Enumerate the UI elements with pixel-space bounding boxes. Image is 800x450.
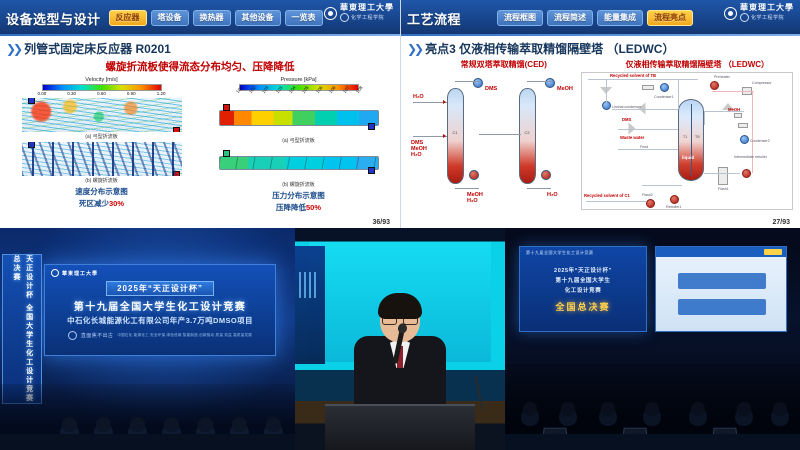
label-dms: DMS bbox=[622, 117, 631, 122]
right-screen2-card bbox=[678, 273, 766, 289]
audience-desk bbox=[505, 434, 800, 450]
velocity-tick: 0.90 bbox=[127, 91, 136, 96]
slide-left-title-row: ❯❯ 列管式固定床反应器 R0201 bbox=[6, 40, 394, 57]
university-sub: 化学工程学院 bbox=[340, 13, 394, 22]
inlet-nozzle-icon bbox=[28, 98, 35, 104]
pressure-caption-a: (a) 弓型折流板 bbox=[282, 137, 315, 144]
slides-region: 设备选型与设计 反应器 塔设备 换热器 其他设备 一览表 華東理工大學 化学工程… bbox=[0, 0, 800, 228]
right-screen-line-4: 全国总决赛 bbox=[555, 300, 610, 313]
velocity-caption-b: (b) 螺旋折流板 bbox=[85, 177, 118, 184]
line bbox=[704, 111, 705, 125]
velocity-caption-a: (a) 弓型折流板 bbox=[85, 133, 118, 140]
university-name-cn: 華東理工大學 bbox=[340, 4, 394, 12]
tab-overview-table[interactable]: 一览表 bbox=[285, 10, 323, 26]
right-screen-line-1: 2025年“天正设计杯” bbox=[554, 266, 612, 274]
slide-right-body: ❯❯ 亮点3 仅液相传输萃取精馏隔壁塔 （LEDWC） 常规双塔萃取精馏(CED… bbox=[401, 36, 800, 228]
pressure-tube-b bbox=[219, 156, 379, 170]
column-c1 bbox=[447, 88, 464, 184]
pressure-metric-label: 压降降低 bbox=[276, 203, 306, 212]
video-region: 華東理工大學 2025年“天正设计杯” 第十九届全国大学生化工设计竞赛 中石化长… bbox=[0, 228, 800, 450]
university-sub: 化学工程学院 bbox=[740, 13, 794, 22]
audience-head bbox=[601, 402, 615, 416]
video-panel-left[interactable]: 華東理工大學 2025年“天正设计杯” 第十九届全国大学生化工设计竞赛 中石化长… bbox=[0, 228, 295, 450]
slide-right-tabs: 流程框图 流程简述 能量集成 流程亮点 bbox=[497, 10, 693, 26]
screen-footer-left: 直面焦不出古 bbox=[81, 332, 113, 339]
pressure-tick: 108 bbox=[355, 85, 367, 96]
line bbox=[588, 79, 698, 80]
flow-arrow-icon bbox=[443, 134, 446, 138]
pressure-caption-b: (b) 螺旋折流板 bbox=[282, 181, 315, 188]
audience-head bbox=[96, 417, 111, 432]
right-screen-secondary bbox=[655, 246, 787, 332]
velocity-contour-a bbox=[22, 98, 182, 132]
pressure-metric-value: 50% bbox=[306, 203, 321, 212]
outlet-nozzle-icon bbox=[368, 167, 375, 174]
flash-vessel-icon bbox=[718, 167, 728, 185]
slide-left-title: 列管式固定床反应器 R0201 bbox=[24, 40, 171, 57]
label-bottom-2: H₂O bbox=[547, 192, 558, 198]
velocity-metric-value: 30% bbox=[109, 199, 124, 208]
recycle-line bbox=[752, 91, 753, 173]
audience-head bbox=[523, 402, 537, 416]
screen-root: 设备选型与设计 反应器 塔设备 换热器 其他设备 一览表 華東理工大學 化学工程… bbox=[0, 0, 800, 450]
college-name-cn: 化学工程学院 bbox=[751, 14, 784, 21]
slide-left-tabs: 反应器 塔设备 换热器 其他设备 一览表 bbox=[109, 10, 323, 26]
vertical-banner-left: 天正设计杯 全国大学生化工设计竞赛 总决赛 bbox=[2, 254, 42, 404]
tab-tower[interactable]: 塔设备 bbox=[151, 10, 189, 26]
velocity-colorbar-ticks: 0.00 0.30 0.60 0.90 1.20 bbox=[38, 91, 166, 96]
university-logo-right: 華東理工大學 化学工程学院 bbox=[724, 4, 794, 22]
right-screen-line-2: 第十九届全国大学生 bbox=[556, 276, 611, 284]
label-flash2: Flash2 bbox=[642, 193, 653, 197]
caption-ledwc: 仅液相传输萃取精馏隔壁塔 （LEDWC） bbox=[601, 59, 795, 70]
pressure-caption-main: 压力分布示意图 bbox=[272, 190, 325, 201]
pipe bbox=[455, 188, 479, 189]
recycle-line bbox=[712, 91, 754, 92]
line bbox=[606, 79, 607, 103]
right-screen2-badge bbox=[764, 249, 782, 255]
university-seal-icon bbox=[324, 7, 337, 20]
university-name-cn: 華東理工大學 bbox=[740, 4, 794, 12]
right-screen-tag: 第十九届全国大学生化工设计竞赛 bbox=[526, 250, 594, 256]
flash1-icon bbox=[646, 199, 655, 208]
condenser2-icon bbox=[740, 135, 749, 144]
podium bbox=[325, 404, 475, 450]
pressure-panel: Pressure [kPa] 101 102 103 103 104 105 1… bbox=[203, 77, 394, 213]
label-recycled-solvent-tb: Recycled solvent of TB bbox=[610, 73, 656, 78]
cfd-row: Velocity [m/s] 0.00 0.30 0.60 0.90 1.20 bbox=[6, 77, 394, 213]
inlet-nozzle-icon bbox=[223, 150, 230, 157]
audience-desk bbox=[0, 434, 295, 450]
audience-head bbox=[232, 417, 247, 432]
label-preheater: Preheater bbox=[714, 75, 730, 79]
speaker-figure bbox=[352, 296, 448, 416]
column-c2 bbox=[519, 88, 536, 184]
velocity-metric-label: 死区减少 bbox=[79, 199, 109, 208]
university-logo-left: 華東理工大學 化学工程学院 bbox=[324, 4, 394, 22]
pipe bbox=[455, 81, 479, 82]
condenser-1-icon bbox=[473, 78, 483, 88]
tab-energy-integration[interactable]: 能量集成 bbox=[597, 10, 643, 26]
line bbox=[678, 79, 679, 109]
label-compressor: Compressor bbox=[752, 81, 772, 85]
inlet-nozzle-icon bbox=[28, 142, 35, 148]
pipe bbox=[413, 136, 447, 137]
line bbox=[618, 129, 678, 130]
label-feed-water: H₂O bbox=[413, 94, 424, 100]
label-condenser1: Condenser1 bbox=[654, 95, 674, 99]
screen-line-2: 第十九届全国大学生化工设计竞赛 bbox=[74, 298, 247, 313]
slide-right-title: 亮点3 仅液相传输萃取精馏隔壁塔 （LEDWC） bbox=[425, 40, 674, 57]
chevron-right-icon: ❯❯ bbox=[6, 42, 20, 56]
audience-left bbox=[0, 384, 295, 450]
university-seal-icon bbox=[51, 269, 59, 277]
speaker-hair bbox=[378, 293, 422, 319]
right-screen-line-3: 化工设计竞赛 bbox=[565, 286, 602, 294]
reboiler1-icon bbox=[670, 195, 679, 204]
label-flash1: Flash1 bbox=[718, 187, 729, 191]
diagram-captions: 常规双塔萃取精馏(CED) 仅液相传输萃取精馏隔壁塔 （LEDWC） bbox=[407, 59, 794, 70]
slide-left-subtitle: 螺旋折流板使得流态分布均匀、压降降低 bbox=[6, 59, 394, 74]
pressure-contour-a bbox=[219, 102, 379, 136]
label-bottom-1: MeOH H₂O bbox=[467, 192, 483, 204]
vertical-banner-text: 天正设计杯 全国大学生化工设计竞赛 总决赛 bbox=[9, 255, 34, 403]
flash2-icon bbox=[742, 169, 751, 178]
label-top-dms: DMS bbox=[485, 86, 497, 92]
pipe bbox=[527, 188, 551, 189]
dividing-wall-column bbox=[678, 99, 704, 181]
line bbox=[612, 109, 678, 110]
tab-process-description[interactable]: 流程简述 bbox=[547, 10, 593, 26]
slide-right-header-title: 工艺流程 bbox=[407, 9, 461, 28]
video-panel-right[interactable]: 第十九届全国大学生化工设计竞赛 2025年“天正设计杯” 第十九届全国大学生 化… bbox=[505, 228, 800, 450]
pressure-metric: 压降降低50% bbox=[276, 202, 321, 213]
column-c1-label: C1 bbox=[452, 130, 457, 135]
label-reboiler1: Reboiler1 bbox=[666, 205, 681, 209]
velocity-tick: 0.60 bbox=[97, 91, 106, 96]
velocity-panel: Velocity [m/s] 0.00 0.30 0.60 0.90 1.20 bbox=[6, 77, 197, 213]
university-logo-text: 華東理工大學 化学工程学院 bbox=[740, 4, 794, 22]
screen-line-3: 中石化长城能源化工有限公司年产3.7万吨DMSO项目 bbox=[67, 315, 253, 326]
slide-right-header: 工艺流程 流程框图 流程简述 能量集成 流程亮点 華東理工大學 化学工程学院 bbox=[401, 0, 800, 36]
audience-right bbox=[505, 364, 800, 450]
condenser-2-icon bbox=[545, 78, 555, 88]
velocity-tick: 0.30 bbox=[67, 91, 76, 96]
audience-head bbox=[198, 417, 213, 432]
college-seal-icon bbox=[340, 13, 349, 22]
label-meoh: MeOH bbox=[728, 107, 740, 112]
slide-left-header: 设备选型与设计 反应器 塔设备 换热器 其他设备 一览表 華東理工大學 化学工程… bbox=[0, 0, 400, 36]
right-screen-main: 第十九届全国大学生化工设计竞赛 2025年“天正设计杯” 第十九届全国大学生 化… bbox=[519, 246, 647, 332]
university-seal-icon bbox=[724, 7, 737, 20]
flow-arrow-icon bbox=[443, 100, 446, 104]
column-section-tb: TB bbox=[695, 135, 700, 139]
feed-h2o: H₂O bbox=[411, 152, 422, 158]
reboiler-1-icon bbox=[469, 170, 479, 180]
chevron-right-icon: ❯❯ bbox=[407, 42, 421, 56]
column-section-t1: T1 bbox=[683, 135, 687, 139]
tab-process-block-diagram[interactable]: 流程框图 bbox=[497, 10, 543, 26]
slide-left-header-title: 设备选型与设计 bbox=[6, 9, 101, 28]
hall-main-screen: 華東理工大學 2025年“天正设计杯” 第十九届全国大学生化工设计竞赛 中石化长… bbox=[44, 264, 276, 356]
valve-icon bbox=[738, 123, 748, 128]
sponsor-seal-icon bbox=[68, 331, 77, 340]
audience-head bbox=[737, 402, 751, 416]
reboiler-2-icon bbox=[541, 170, 551, 180]
screen-org-logo: 華東理工大學 bbox=[51, 269, 98, 277]
ledwc-diagram: T1 TB liquid bbox=[581, 72, 793, 210]
label-recycled-solvent-c1: Recycled solvent of C1 bbox=[584, 193, 630, 198]
line bbox=[618, 149, 678, 150]
outlet-nozzle-icon bbox=[173, 171, 180, 176]
inlet-nozzle-icon bbox=[223, 104, 230, 111]
outlet-nozzle-icon bbox=[368, 123, 375, 130]
college-name-cn: 化学工程学院 bbox=[351, 14, 384, 21]
college-seal-icon bbox=[740, 13, 749, 22]
ced-diagram: C1 C2 bbox=[407, 72, 579, 210]
slide-left: 设备选型与设计 反应器 塔设备 换热器 其他设备 一览表 華東理工大學 化学工程… bbox=[0, 0, 400, 228]
condenser1-icon bbox=[660, 83, 669, 92]
audience-head bbox=[164, 417, 179, 432]
slide-right-title-row: ❯❯ 亮点3 仅液相传输萃取精馏隔壁塔 （LEDWC） bbox=[407, 40, 794, 57]
pipe bbox=[479, 134, 521, 135]
bottom-h2o: H₂O bbox=[467, 198, 478, 204]
screen-line-1: 2025年“天正设计杯” bbox=[106, 281, 214, 296]
label-waste-water: Waste water bbox=[620, 135, 644, 140]
line bbox=[642, 185, 682, 186]
audience-head bbox=[266, 417, 281, 432]
pressure-tube-a bbox=[219, 110, 379, 126]
label-intermediate-reboiler: Intermediate reboiler bbox=[734, 155, 767, 159]
audience-head bbox=[130, 417, 145, 432]
screen-footer: 直面焦不出古 中国石化 能源化工 安全环保 绿色低碳 智能制造 创新驱动 质量 … bbox=[68, 331, 252, 340]
pipe bbox=[527, 81, 551, 82]
label-feed-mix: DMS MeOH H₂O bbox=[411, 140, 427, 158]
audience-head bbox=[773, 402, 787, 416]
column-c2-label: C2 bbox=[524, 130, 529, 135]
tab-other-equipment[interactable]: 其他设备 bbox=[235, 10, 281, 26]
screen-org-name: 華東理工大學 bbox=[62, 270, 98, 277]
velocity-colorbar-title: Velocity [m/s] bbox=[85, 77, 117, 83]
audience-head bbox=[62, 417, 77, 432]
pressure-contour-b bbox=[219, 146, 379, 180]
pressure-colorbar-ticks: 101 102 103 103 104 105 106 106 107 108 bbox=[235, 91, 363, 100]
slide-right: 工艺流程 流程框图 流程简述 能量集成 流程亮点 華東理工大學 化学工程学院 bbox=[400, 0, 800, 228]
tab-process-highlights[interactable]: 流程亮点 bbox=[647, 10, 693, 26]
line bbox=[704, 173, 740, 174]
caption-ced: 常规双塔萃取精馏(CED) bbox=[407, 59, 601, 70]
pipe bbox=[413, 102, 447, 103]
velocity-tick: 1.20 bbox=[157, 91, 166, 96]
tab-reactor[interactable]: 反应器 bbox=[109, 10, 147, 26]
outlet-nozzle-icon bbox=[173, 127, 180, 132]
slide-left-page-number: 36/93 bbox=[372, 219, 390, 226]
line bbox=[586, 201, 646, 202]
right-screen2-card bbox=[678, 299, 766, 315]
audience-head bbox=[645, 402, 659, 416]
velocity-tick: 0.00 bbox=[38, 91, 47, 96]
label-liminal-condenser: Liminal condenser bbox=[612, 105, 641, 109]
liquid-label: liquid bbox=[682, 155, 694, 160]
label-condenser2: Condenser2 bbox=[750, 139, 770, 143]
diagram-row: C1 C2 bbox=[407, 72, 794, 210]
valve-icon bbox=[642, 85, 654, 90]
audience-head bbox=[561, 402, 575, 416]
university-logo-text: 華東理工大學 化学工程学院 bbox=[340, 4, 394, 22]
video-panel-speaker[interactable] bbox=[295, 228, 505, 450]
label-top-meoh: MeOH bbox=[557, 86, 573, 92]
tab-heat-exchanger[interactable]: 换热器 bbox=[193, 10, 231, 26]
velocity-caption-main: 速度分布示意图 bbox=[75, 186, 128, 197]
slide-right-page-number: 27/93 bbox=[772, 219, 790, 226]
speaker-side-screen bbox=[295, 246, 325, 364]
preheater-icon bbox=[710, 81, 719, 90]
valve-icon bbox=[734, 113, 742, 118]
velocity-contour-b bbox=[22, 142, 182, 176]
audience-head bbox=[691, 402, 705, 416]
slide-left-body: ❯❯ 列管式固定床反应器 R0201 螺旋折流板使得流态分布均匀、压降降低 Ve… bbox=[0, 36, 400, 228]
velocity-colorbar bbox=[42, 84, 162, 91]
pressure-colorbar-title: Pressure [kPa] bbox=[280, 77, 316, 83]
label-feed: Feed bbox=[640, 145, 648, 149]
velocity-metric: 死区减少30% bbox=[79, 198, 124, 209]
screen-footer-right: 中国石化 能源化工 安全环保 绿色低碳 智能制造 创新驱动 质量 效益 高质量发… bbox=[117, 333, 252, 338]
